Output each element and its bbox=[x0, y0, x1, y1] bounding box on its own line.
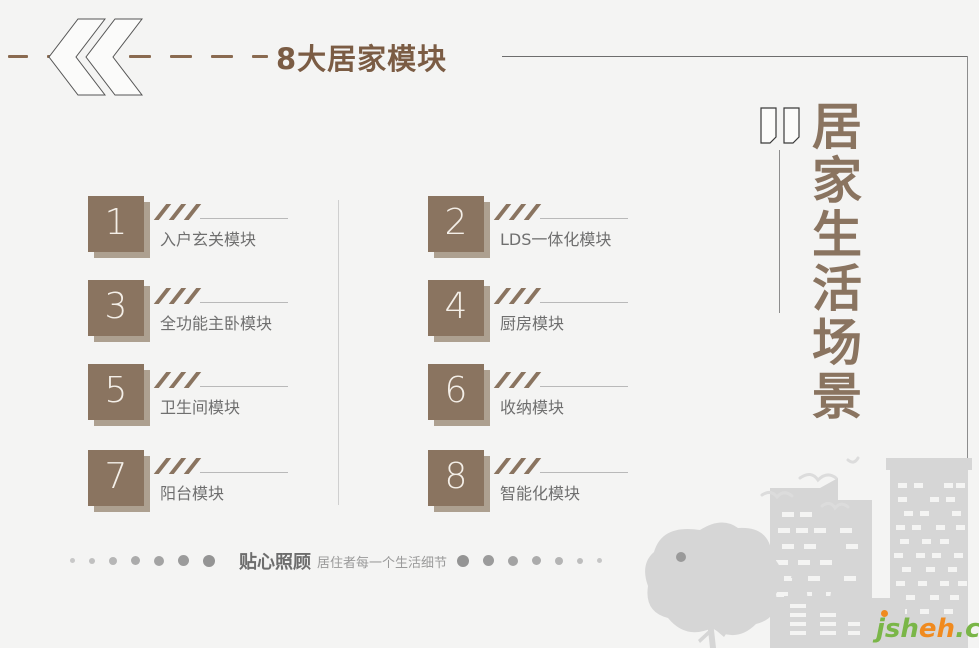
quote-vertical-line bbox=[779, 150, 780, 313]
module-label: 厨房模块 bbox=[500, 310, 564, 334]
caption-dot bbox=[203, 555, 215, 567]
module-badge-square: 5 bbox=[88, 364, 144, 420]
watermark-name-1: jsh bbox=[876, 614, 919, 644]
slash-mark-icon bbox=[154, 204, 172, 220]
caption-dot bbox=[597, 558, 602, 563]
module-badge-square: 7 bbox=[88, 450, 144, 506]
module-number-badge: 2 bbox=[428, 196, 490, 258]
module-rule-line bbox=[540, 386, 628, 387]
caption-dot bbox=[577, 558, 583, 564]
module-number-badge: 4 bbox=[428, 280, 490, 342]
caption-dots-left bbox=[70, 552, 229, 570]
module-slash-decoration-icon bbox=[160, 458, 290, 474]
slash-mark-icon bbox=[509, 372, 527, 388]
module-badge-square: 8 bbox=[428, 450, 484, 506]
slash-mark-icon bbox=[169, 372, 187, 388]
module-rule-line bbox=[200, 386, 288, 387]
slash-mark-icon bbox=[509, 288, 527, 304]
caption-dot bbox=[555, 557, 563, 565]
module-slash-decoration-icon bbox=[160, 288, 290, 304]
caption-dot bbox=[89, 558, 95, 564]
module-badge-square: 4 bbox=[428, 280, 484, 336]
small-chimneys-group bbox=[791, 571, 849, 614]
slash-mark-icon bbox=[524, 372, 542, 388]
slash-mark-icon bbox=[524, 458, 542, 474]
factory-chimneys bbox=[790, 573, 850, 648]
slide-canvas: 8大居家模块 1入户玄关模块2LDS一体化模块3全功能主卧模块4厨房模块5卫生间… bbox=[0, 0, 979, 648]
caption-bar: 贴心照顾 居住者每一个生活细节 bbox=[70, 548, 616, 574]
caption-primary-text: 贴心照顾 bbox=[239, 548, 311, 574]
module-number: 5 bbox=[105, 373, 128, 412]
module-number: 8 bbox=[445, 459, 468, 498]
page-title: 8大居家模块 bbox=[276, 36, 447, 78]
module-rule-line bbox=[200, 218, 288, 219]
building-low-wide bbox=[783, 598, 823, 648]
module-slash-decoration-icon bbox=[500, 288, 630, 304]
module-slash-decoration-icon bbox=[500, 204, 630, 220]
module-rule-line bbox=[540, 302, 628, 303]
building-low-left bbox=[784, 598, 830, 648]
slash-mark-icon bbox=[184, 372, 202, 388]
frame-right-line bbox=[967, 56, 968, 648]
birds-flock bbox=[762, 458, 858, 508]
module-badge-square: 2 bbox=[428, 196, 484, 252]
header-dash-segment bbox=[252, 55, 268, 58]
caption-dot bbox=[532, 556, 541, 565]
module-number: 7 bbox=[105, 459, 128, 498]
module-label: 卫生间模块 bbox=[160, 394, 240, 418]
module-number-badge: 5 bbox=[88, 364, 150, 426]
slash-mark-icon bbox=[494, 288, 512, 304]
caption-dot bbox=[483, 555, 494, 566]
low-cluster bbox=[784, 571, 864, 648]
vertical-title-char: 景 bbox=[806, 370, 868, 424]
module-label: 全功能主卧模块 bbox=[160, 310, 272, 334]
module-badge-square: 1 bbox=[88, 196, 144, 252]
watermark-dot-icon bbox=[881, 610, 888, 617]
building-base-wide bbox=[783, 598, 853, 648]
module-label: 收纳模块 bbox=[500, 394, 564, 418]
slash-mark-icon bbox=[169, 204, 187, 220]
vertical-title-char: 生 bbox=[806, 208, 868, 262]
module-badge-square: 6 bbox=[428, 364, 484, 420]
module-number: 6 bbox=[445, 373, 468, 412]
header-dash-segment bbox=[8, 55, 28, 58]
building-mid bbox=[770, 478, 872, 648]
slash-mark-icon bbox=[184, 204, 202, 220]
chevron-left-icon-2 bbox=[85, 18, 143, 96]
frame-top-line bbox=[502, 56, 968, 57]
module-rule-line bbox=[540, 472, 628, 473]
slash-mark-icon bbox=[524, 288, 542, 304]
vertical-title-char: 家 bbox=[806, 154, 868, 208]
module-slash-decoration-icon bbox=[500, 372, 630, 388]
column-divider bbox=[338, 200, 339, 505]
caption-dot bbox=[70, 558, 75, 563]
caption-dot bbox=[457, 555, 469, 567]
module-label: LDS一体化模块 bbox=[500, 226, 611, 250]
module-rule-line bbox=[200, 302, 288, 303]
caption-dot bbox=[109, 557, 117, 565]
module-number-badge: 6 bbox=[428, 364, 490, 426]
slash-mark-icon bbox=[184, 458, 202, 474]
module-number: 2 bbox=[445, 205, 468, 244]
slash-mark-icon bbox=[154, 458, 172, 474]
small-dot-icon bbox=[676, 552, 686, 562]
module-slash-decoration-icon bbox=[160, 372, 290, 388]
vertical-title: 居家生活场景 bbox=[806, 100, 868, 424]
slash-mark-icon bbox=[494, 204, 512, 220]
slash-mark-icon bbox=[509, 458, 527, 474]
caption-dot bbox=[131, 556, 140, 565]
tree-icon bbox=[645, 522, 782, 648]
module-rule-line bbox=[200, 472, 288, 473]
slash-mark-icon bbox=[494, 458, 512, 474]
slash-mark-icon bbox=[509, 204, 527, 220]
module-number-badge: 8 bbox=[428, 450, 490, 512]
slash-mark-icon bbox=[169, 458, 187, 474]
header-dash-segment bbox=[211, 55, 233, 58]
building-left-group bbox=[785, 600, 795, 648]
header-dash-segment bbox=[170, 55, 192, 58]
watermark: jsheh.com 爱设汇 bbox=[876, 616, 979, 646]
slash-mark-icon bbox=[169, 288, 187, 304]
watermark-name-2: eh bbox=[919, 614, 955, 644]
module-number: 3 bbox=[105, 289, 128, 328]
slash-mark-icon bbox=[494, 372, 512, 388]
slash-mark-icon bbox=[154, 372, 172, 388]
vertical-title-char: 场 bbox=[806, 316, 868, 370]
module-number-badge: 7 bbox=[88, 450, 150, 512]
module-number-badge: 3 bbox=[88, 280, 150, 342]
module-slash-decoration-icon bbox=[160, 204, 290, 220]
double-quote-icon bbox=[758, 105, 804, 152]
module-number-badge: 1 bbox=[88, 196, 150, 258]
caption-dot bbox=[508, 556, 518, 566]
module-rule-line bbox=[540, 218, 628, 219]
module-number: 1 bbox=[105, 205, 128, 244]
caption-dot bbox=[178, 555, 189, 566]
caption-dot bbox=[154, 556, 164, 566]
left-factory bbox=[742, 571, 848, 648]
module-slash-decoration-icon bbox=[500, 458, 630, 474]
module-label: 阳台模块 bbox=[160, 480, 224, 504]
caption-secondary-text: 居住者每一个生活细节 bbox=[317, 552, 447, 571]
module-number: 4 bbox=[445, 289, 468, 328]
caption-dots-right bbox=[457, 552, 616, 570]
vertical-title-char: 活 bbox=[806, 262, 868, 316]
slash-mark-icon bbox=[154, 288, 172, 304]
slash-mark-icon bbox=[184, 288, 202, 304]
module-label: 智能化模块 bbox=[500, 480, 580, 504]
module-badge-square: 3 bbox=[88, 280, 144, 336]
module-label: 入户玄关模块 bbox=[160, 226, 256, 250]
vertical-title-char: 居 bbox=[806, 100, 868, 154]
watermark-domain: .com bbox=[955, 614, 979, 644]
slash-mark-icon bbox=[524, 204, 542, 220]
